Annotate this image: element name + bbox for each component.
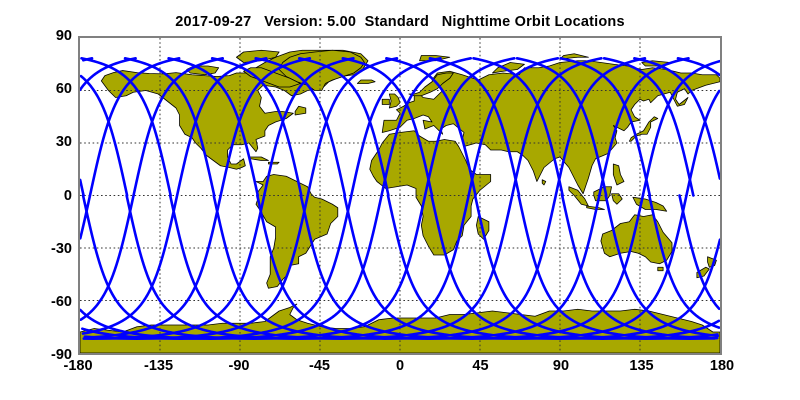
orbit-map-figure: 2017-09-27 Version: 5.00 Standard Nightt…	[0, 0, 800, 400]
y-tick-label--30: -30	[32, 242, 72, 256]
x-tick-label-45: 45	[446, 359, 516, 373]
landmass-ireland	[382, 99, 389, 104]
x-tick-label--90: -90	[204, 359, 274, 373]
y-tick-label-90: 90	[32, 29, 72, 43]
x-tick-label--180: -180	[43, 359, 113, 373]
y-tick-label-30: 30	[32, 135, 72, 149]
x-tick-label-180: 180	[687, 359, 757, 373]
y-tick-label-60: 60	[32, 82, 72, 96]
x-tick-label--45: -45	[285, 359, 355, 373]
x-tick-label-135: 135	[607, 359, 677, 373]
figure-title: 2017-09-27 Version: 5.00 Standard Nightt…	[0, 14, 800, 30]
x-tick-label-90: 90	[526, 359, 596, 373]
y-tick-label-0: 0	[32, 189, 72, 203]
x-tick-label--135: -135	[124, 359, 194, 373]
y-tick-label--60: -60	[32, 295, 72, 309]
x-tick-label-0: 0	[365, 359, 435, 373]
landmass-tasmania	[658, 267, 663, 271]
map-plot-area	[78, 36, 722, 355]
map-svg	[80, 38, 720, 353]
